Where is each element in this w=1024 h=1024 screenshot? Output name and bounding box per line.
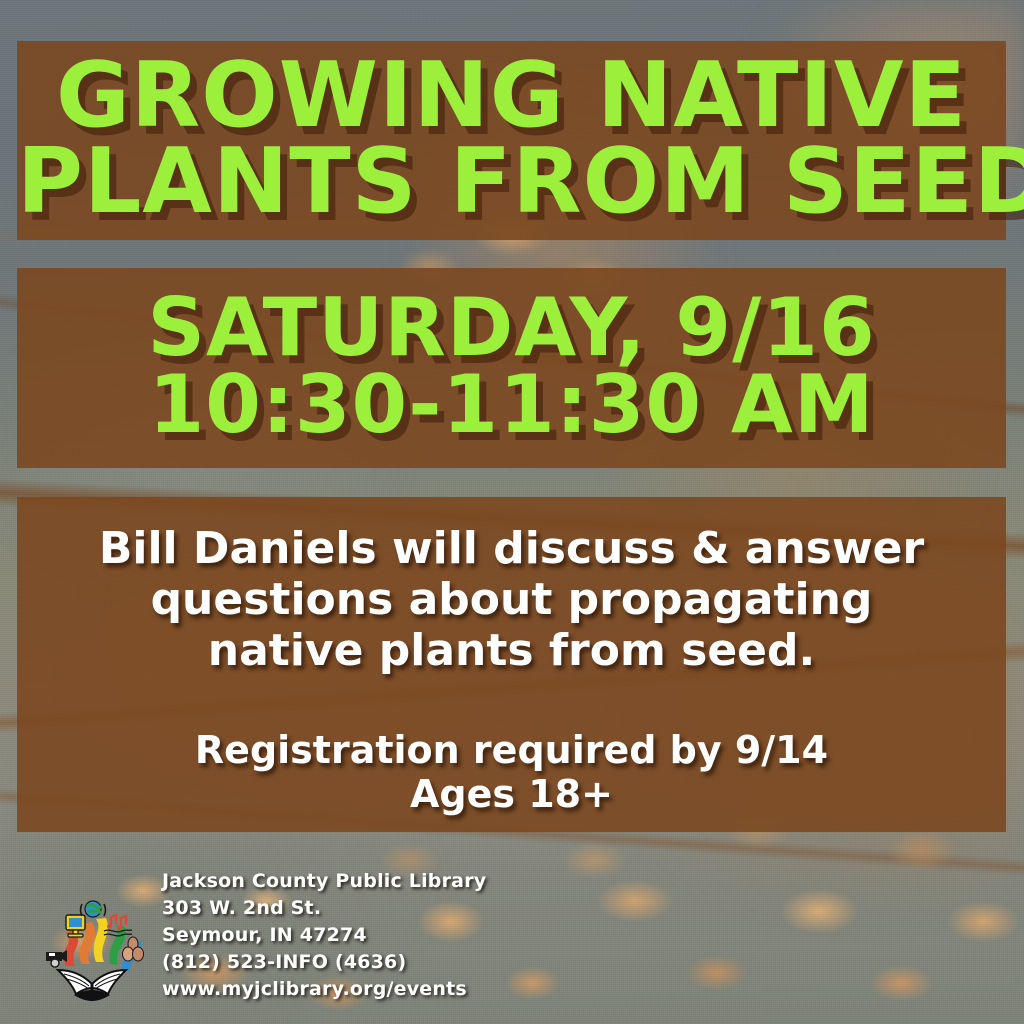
description-line-2: questions about propagating	[17, 574, 1006, 625]
page-title: GROWING NATIVE PLANTS FROM SEED	[17, 41, 1006, 226]
title-line-2: PLANTS FROM SEED	[17, 139, 1006, 225]
event-time: 10:30-11:30 AM	[17, 367, 1006, 444]
people-icon	[123, 937, 144, 961]
age-requirement: Ages 18+	[17, 772, 1006, 816]
event-poster: GROWING NATIVE PLANTS FROM SEED SATURDAY…	[0, 0, 1024, 1024]
footer: Jackson County Public Library 303 W. 2nd…	[36, 869, 486, 1008]
title-band: GROWING NATIVE PLANTS FROM SEED	[17, 41, 1006, 240]
library-city: Seymour, IN 47274	[162, 923, 486, 948]
logo-ribbon-yellow	[94, 918, 108, 962]
jcpl-logo	[36, 896, 148, 1008]
event-date: SATURDAY, 9/16	[17, 290, 1006, 367]
library-website[interactable]: www.myjclibrary.org/events	[162, 977, 486, 1002]
description-line-1: Bill Daniels will discuss & answer	[17, 523, 1006, 574]
video-camera-icon	[46, 950, 67, 967]
open-book-icon	[58, 970, 126, 1001]
title-line-1: GROWING NATIVE	[17, 53, 1006, 139]
event-datetime: SATURDAY, 9/16 10:30-11:30 AM	[17, 268, 1006, 444]
library-name: Jackson County Public Library	[162, 869, 486, 894]
registration-note: Registration required by 9/14 Ages 18+	[17, 676, 1006, 816]
library-street: 303 W. 2nd St.	[162, 896, 486, 921]
registration-deadline: Registration required by 9/14	[17, 728, 1006, 772]
library-phone: (812) 523-INFO (4636)	[162, 950, 486, 975]
library-contact-info: Jackson County Public Library 303 W. 2nd…	[162, 869, 486, 1008]
description-line-3: native plants from seed.	[17, 625, 1006, 676]
event-description: Bill Daniels will discuss & answer quest…	[17, 497, 1006, 676]
computer-monitor-icon	[66, 915, 85, 937]
datetime-band: SATURDAY, 9/16 10:30-11:30 AM	[17, 268, 1006, 468]
details-band: Bill Daniels will discuss & answer quest…	[17, 497, 1006, 832]
